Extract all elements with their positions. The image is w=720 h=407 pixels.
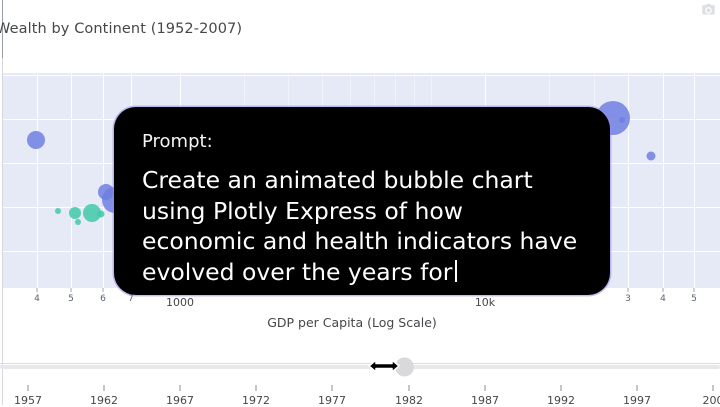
gridline-vertical	[37, 73, 38, 288]
x-axis-tick-label: 4	[34, 294, 40, 304]
slider-tick	[104, 385, 105, 391]
bubble-marker[interactable]	[55, 208, 61, 214]
x-axis-title: GDP per Capita (Log Scale)	[0, 315, 720, 330]
x-axis-tick-label: 5	[68, 294, 74, 304]
bubble-marker[interactable]	[647, 152, 656, 161]
x-axis-tick	[628, 288, 629, 292]
slider-tick	[713, 385, 714, 391]
x-axis-tick-label: 5	[691, 294, 697, 304]
slider-handle[interactable]	[395, 358, 414, 377]
slider-tick-label[interactable]: 1962	[90, 394, 118, 407]
gridline-horizontal	[3, 75, 720, 76]
slider-tick-label[interactable]: 200	[703, 394, 720, 407]
slider-track-edge	[0, 363, 720, 364]
gridline-vertical	[663, 73, 664, 288]
chart-title: Wealth by Continent (1952-2007)	[0, 21, 242, 37]
bubble-marker[interactable]	[27, 131, 45, 149]
year-animation-slider[interactable]: 195719621967197219771982198719921997200	[0, 352, 720, 405]
x-axis-tick	[103, 288, 104, 292]
x-axis-tick-label: 10k	[475, 296, 495, 309]
plotly-modebar[interactable]	[700, 1, 716, 17]
bubble-marker[interactable]	[619, 117, 625, 123]
slider-tick-label[interactable]: 1997	[623, 394, 651, 407]
bubble-marker[interactable]	[69, 207, 81, 219]
slider-tick	[409, 385, 410, 391]
gridline-vertical	[103, 73, 104, 288]
bubble-marker[interactable]	[98, 211, 105, 218]
slider-tick-label[interactable]: 1992	[547, 394, 575, 407]
gridline-vertical	[628, 73, 629, 288]
prompt-text-value: Create an animated bubble chart using Pl…	[142, 166, 585, 286]
text-caret	[455, 260, 457, 282]
prompt-overlay[interactable]: Prompt: Create an animated bubble chart …	[114, 107, 610, 295]
slider-tick-label[interactable]: 1967	[166, 394, 194, 407]
slider-tick	[256, 385, 257, 391]
slider-track[interactable]	[0, 365, 720, 369]
gridline-vertical	[694, 73, 695, 288]
download-plot-icon[interactable]	[700, 1, 716, 17]
x-axis-tick-label: 7	[128, 294, 134, 304]
slider-tick	[637, 385, 638, 391]
slider-tick	[332, 385, 333, 391]
x-axis-tick-label: 3	[625, 294, 631, 304]
x-axis-tick	[663, 288, 664, 292]
slider-tick-label[interactable]: 1987	[471, 394, 499, 407]
slider-tick	[485, 385, 486, 391]
x-axis-tick	[694, 288, 695, 292]
x-axis-tick-label: 6	[100, 294, 106, 304]
slider-tick-label[interactable]: 1982	[395, 394, 423, 407]
app-root: Wealth by Continent (1952-2007) 45671000…	[0, 0, 720, 405]
slider-tick-label[interactable]: 1977	[318, 394, 346, 407]
slider-tick-label[interactable]: 1957	[14, 394, 42, 407]
gridline-vertical	[71, 73, 72, 288]
prompt-text: Create an animated bubble chart using Pl…	[142, 165, 582, 287]
slider-tick	[180, 385, 181, 391]
x-axis-title-text: GDP per Capita (Log Scale)	[267, 315, 437, 330]
bubble-marker[interactable]	[75, 219, 81, 225]
x-axis-tick-label: 4	[660, 294, 666, 304]
x-axis-tick	[71, 288, 72, 292]
slider-tick	[28, 385, 29, 391]
prompt-label: Prompt:	[142, 133, 582, 151]
x-axis-tick	[37, 288, 38, 292]
slider-tick	[561, 385, 562, 391]
x-axis-tick-label: 1000	[166, 296, 194, 309]
slider-tick-label[interactable]: 1972	[242, 394, 270, 407]
